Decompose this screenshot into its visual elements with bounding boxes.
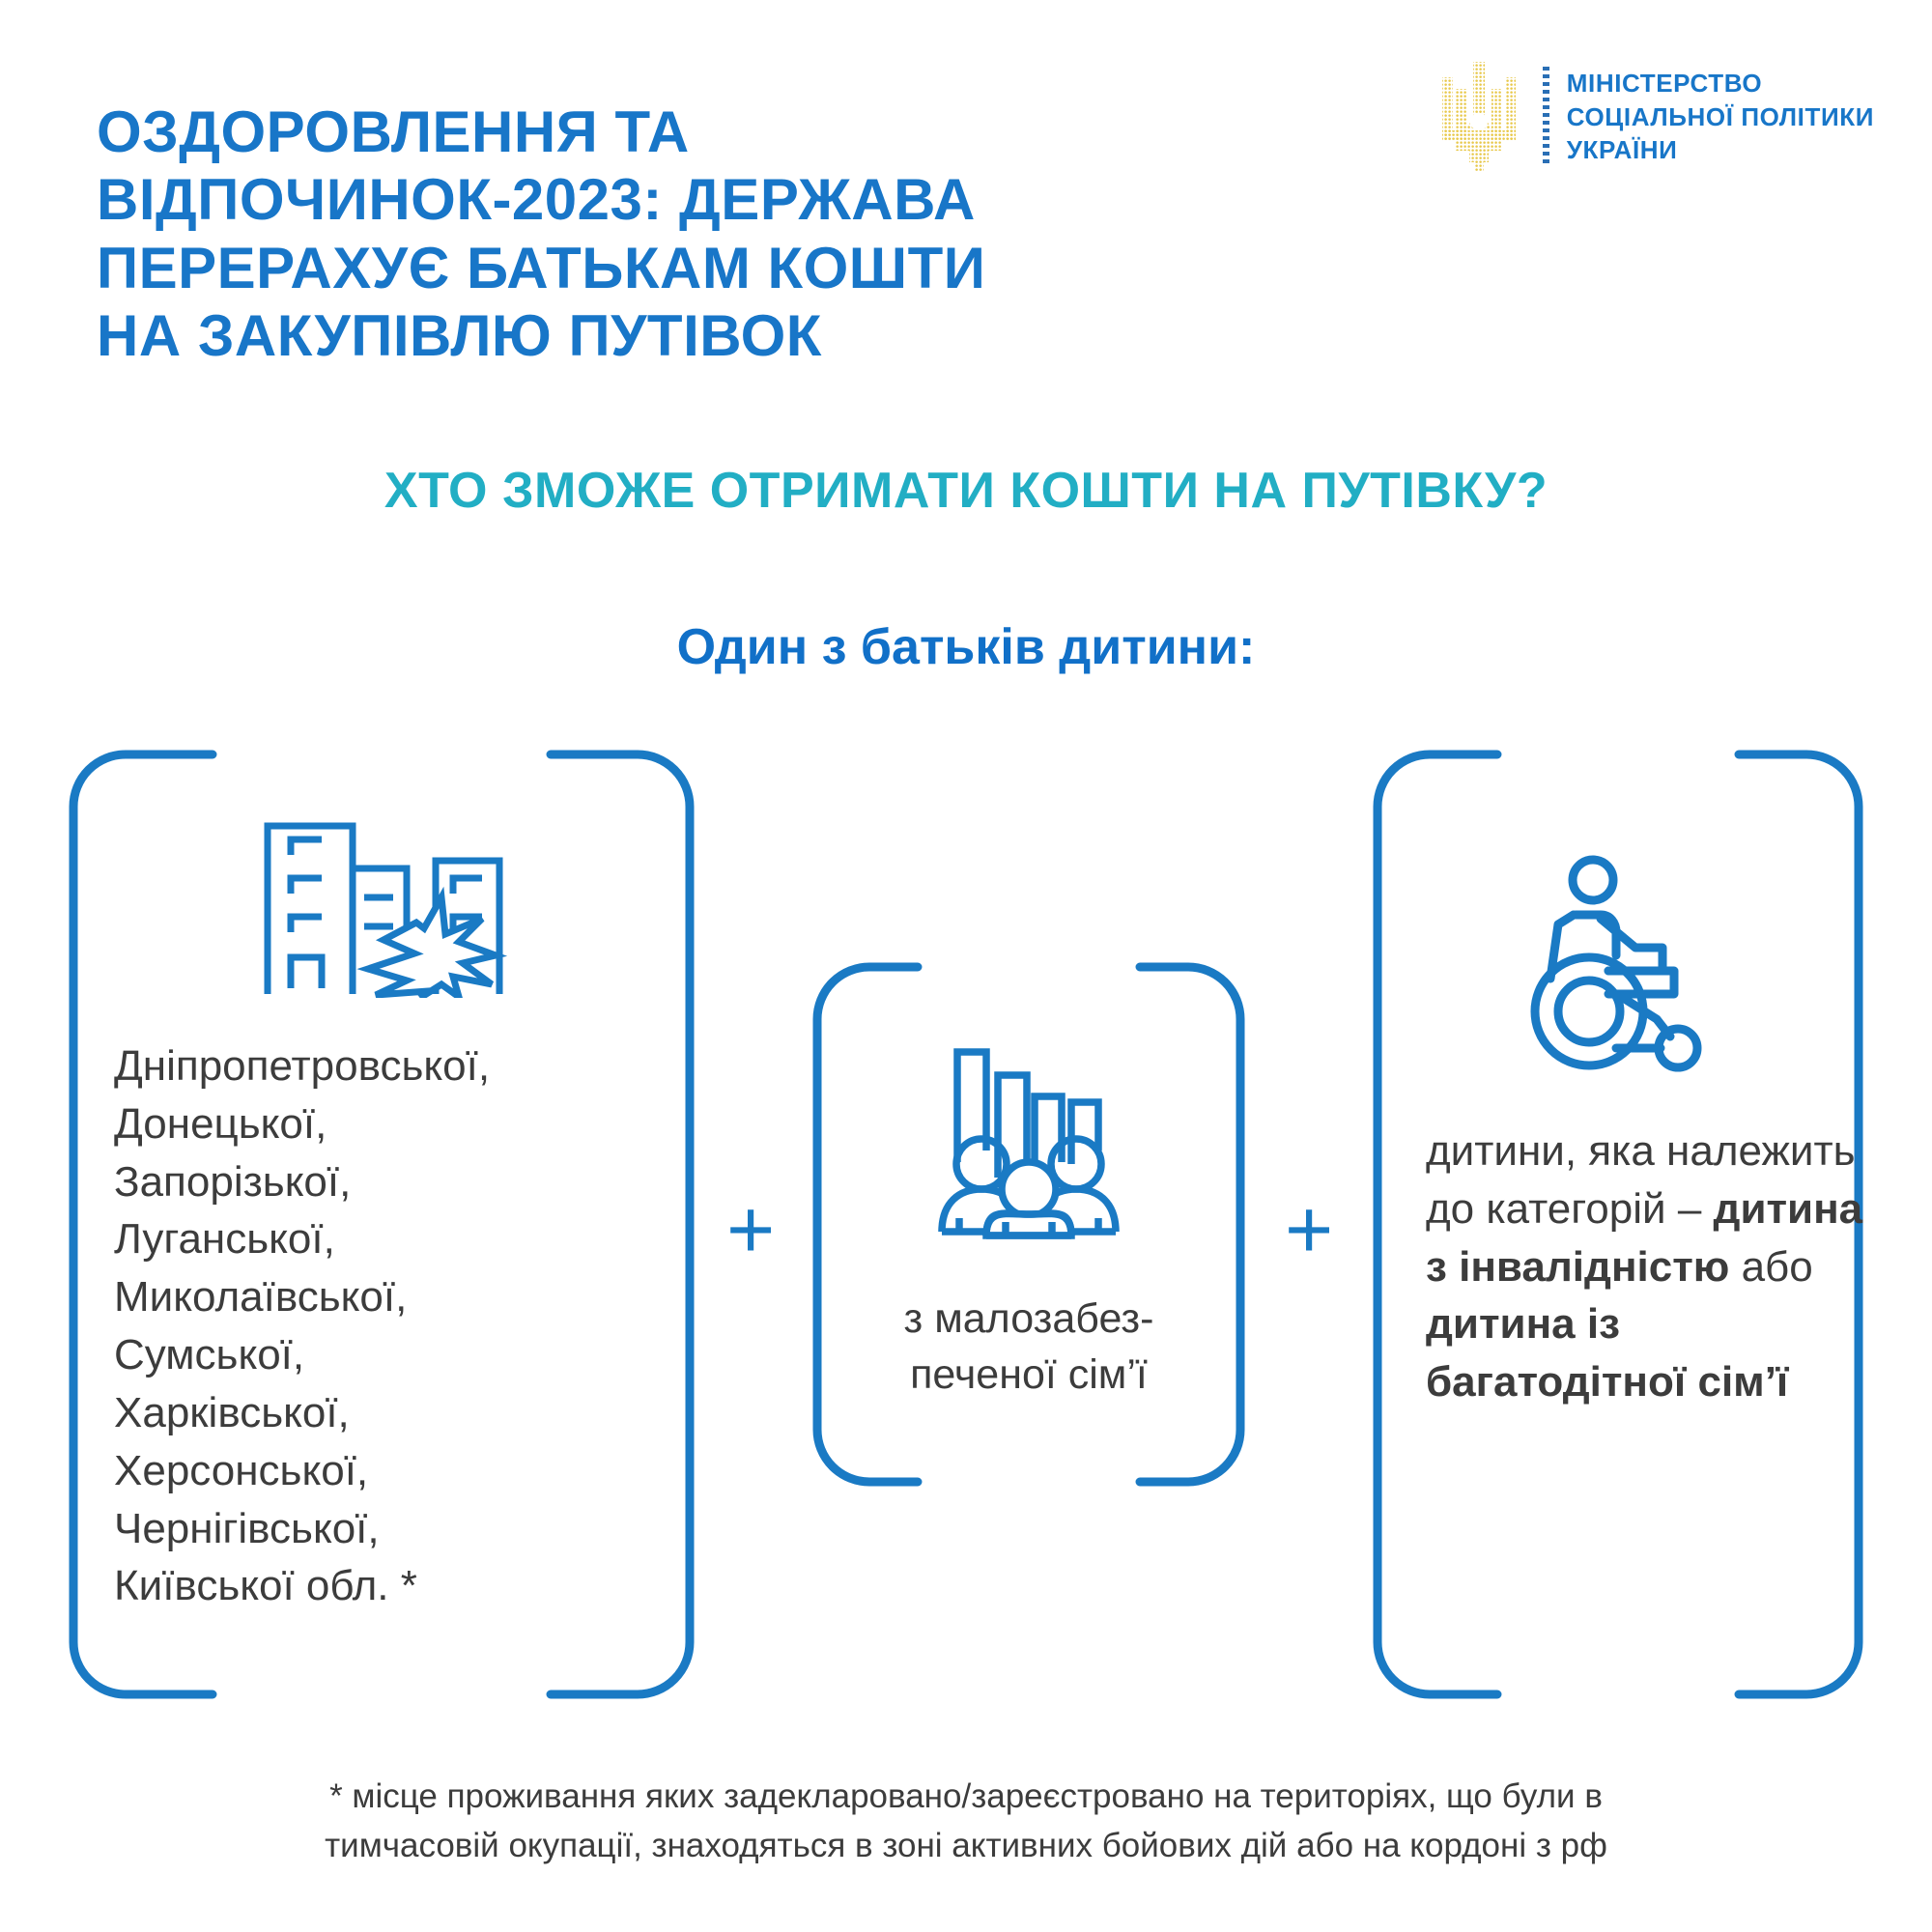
damaged-buildings-explosion-icon xyxy=(252,805,511,1003)
ministry-name-line: МІНІСТЕРСТВО xyxy=(1567,67,1874,100)
region-item: Дніпропетровської, xyxy=(114,1037,490,1095)
region-item: Луганської, xyxy=(114,1210,490,1268)
plus-operator: + xyxy=(726,1188,775,1271)
page-title-line: ОЗДОРОВЛЕННЯ ТА xyxy=(97,99,1236,166)
section-lead: Один з батьків дитини: xyxy=(0,618,1932,676)
wheelchair-person-icon xyxy=(1516,855,1720,1082)
child-category-text: дитини, яка належить до категорій – дити… xyxy=(1372,1122,1864,1411)
footnote-line: тимчасовій окупації, знаходяться в зоні … xyxy=(0,1822,1932,1871)
section-question: ХТО ЗМОЖЕ ОТРИМАТИ КОШТИ НА ПУТІВКУ? xyxy=(0,462,1932,520)
page-title-line: ПЕРЕРАХУЄ БАТЬКАМ КОШТИ xyxy=(97,235,1236,302)
ministry-name-line: УКРАЇНИ xyxy=(1567,133,1874,167)
criteria-card-low-income: з малозабез- печеної сім’ї xyxy=(811,961,1246,1488)
low-income-family-group-icon xyxy=(926,1042,1131,1246)
footnote: * місце проживання яких задекларовано/за… xyxy=(0,1773,1932,1871)
footnote-line: * місце проживання яких задекларовано/за… xyxy=(0,1773,1932,1822)
page-title-line: НА ЗАКУПІВЛЮ ПУТІВОК xyxy=(97,302,1236,370)
child-category-segment: або xyxy=(1742,1243,1813,1291)
low-income-label-line: печеної сім’ї xyxy=(904,1347,1154,1403)
region-item: Донецької, xyxy=(114,1095,490,1153)
region-item: Київської обл. * xyxy=(114,1557,490,1615)
criteria-columns: Дніпропетровської, Донецької, Запорізько… xyxy=(0,749,1932,1700)
page-title-line: ВІДПОЧИНОК-2023: ДЕРЖАВА xyxy=(97,166,1236,234)
ministry-name: МІНІСТЕРСТВО СОЦІАЛЬНОЇ ПОЛІТИКИ УКРАЇНИ xyxy=(1567,67,1874,167)
region-item: Запорізької, xyxy=(114,1153,490,1211)
region-item: Чернігівської, xyxy=(114,1500,490,1558)
ministry-name-line: СОЦІАЛЬНОЇ ПОЛІТИКИ xyxy=(1567,100,1874,134)
region-item: Харківської, xyxy=(114,1384,490,1442)
regions-list: Дніпропетровської, Донецької, Запорізько… xyxy=(68,1037,490,1615)
logo-divider xyxy=(1543,67,1549,167)
ukraine-trident-emblem-icon xyxy=(1433,60,1525,174)
criteria-card-child-category: дитини, яка належить до категорій – дити… xyxy=(1372,749,1864,1700)
header: ОЗДОРОВЛЕННЯ ТА ВІДПОЧИНОК-2023: ДЕРЖАВА… xyxy=(0,0,1932,406)
region-item: Херсонської, xyxy=(114,1442,490,1500)
low-income-label-line: з малозабез- xyxy=(904,1291,1154,1347)
criteria-card-regions: Дніпропетровської, Донецької, Запорізько… xyxy=(68,749,696,1700)
region-item: Сумської, xyxy=(114,1326,490,1384)
plus-operator: + xyxy=(1285,1188,1333,1271)
ministry-logo: МІНІСТЕРСТВО СОЦІАЛЬНОЇ ПОЛІТИКИ УКРАЇНИ xyxy=(1433,60,1874,174)
low-income-label: з малозабез- печеної сім’ї xyxy=(904,1291,1154,1404)
region-item: Миколаївської, xyxy=(114,1268,490,1326)
child-category-segment-bold: дитина із багатодітної сім’ї xyxy=(1426,1300,1788,1406)
page-title: ОЗДОРОВЛЕННЯ ТА ВІДПОЧИНОК-2023: ДЕРЖАВА… xyxy=(97,99,1236,370)
